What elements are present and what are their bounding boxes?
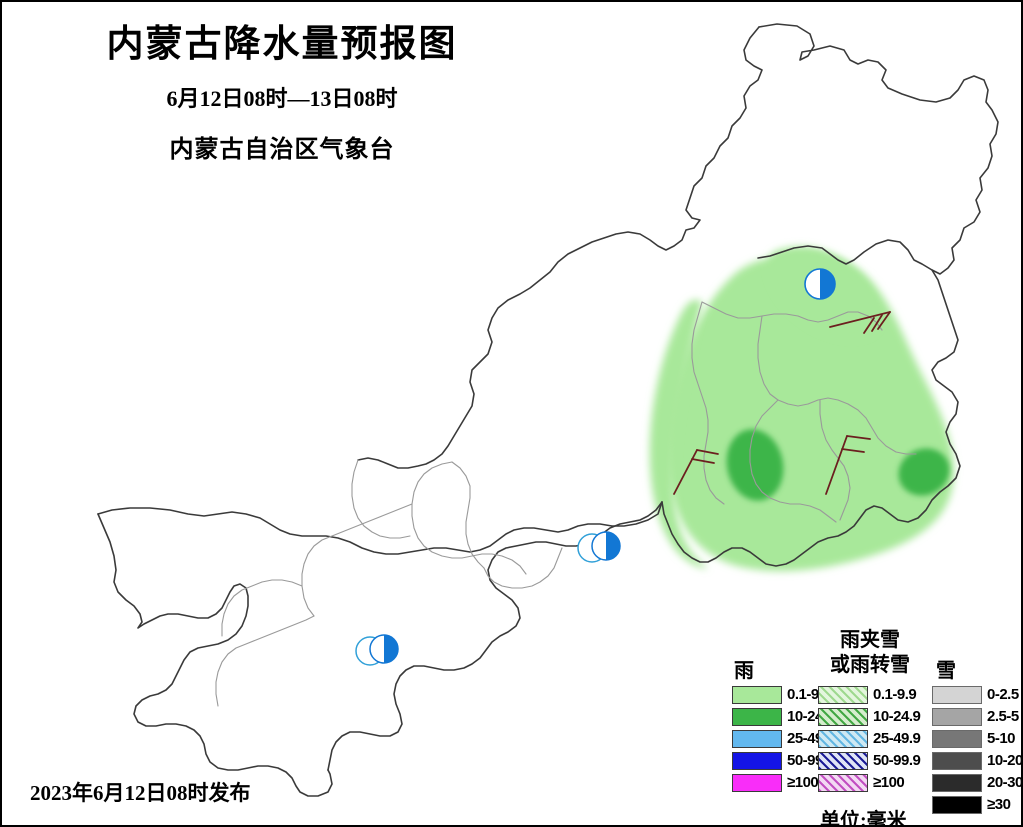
- boundary-hohhot: [302, 504, 412, 616]
- legend-row-snow-3: 10-20: [932, 750, 1023, 771]
- legend-label-sleet-2: 25-49.9: [873, 730, 920, 747]
- legend-label-snow-2: 5-10: [987, 730, 1015, 747]
- page-title: 内蒙古降水量预报图: [2, 24, 562, 67]
- precipitation-forecast-map-page: 内蒙古降水量预报图 6月12日08时—13日08时 内蒙古自治区气象台 2023…: [0, 0, 1023, 827]
- legend-label-sleet-1: 10-24.9: [873, 708, 920, 725]
- legend-swatch-snow-0: [932, 686, 982, 704]
- issuing-authority: 内蒙古自治区气象台: [2, 129, 562, 164]
- legend-unit-label: 单位:毫米: [820, 804, 907, 827]
- legend-label-snow-0: 0-2.5: [987, 686, 1019, 703]
- outline-west-left: [98, 514, 332, 796]
- legend: 雨 雨夹雪 或雨转雪 雪 0.1-9.910-24.925-49.950-99.…: [728, 626, 1016, 822]
- legend-header-sleet-line1: 雨夹雪: [810, 628, 930, 653]
- legend-row-sleet-1: 10-24.9: [818, 706, 920, 727]
- legend-label-snow-4: 20-30: [987, 774, 1023, 791]
- legend-swatch-snow-1: [932, 708, 982, 726]
- precip-symbol-west: [356, 635, 398, 665]
- legend-label-sleet-3: 50-99.9: [873, 752, 920, 769]
- legend-row-sleet-2: 25-49.9: [818, 728, 920, 749]
- legend-label-sleet-0: 0.1-9.9: [873, 686, 916, 703]
- legend-swatch-snow-3: [932, 752, 982, 770]
- legend-swatch-rain-0: [732, 686, 782, 704]
- legend-label-rain-4: ≥100: [787, 774, 818, 791]
- boundary-alxa-east: [352, 460, 410, 538]
- legend-header-sleet-line2: 或雨转雪: [810, 653, 930, 678]
- precip-symbol-central: [578, 532, 620, 562]
- legend-header-rain: 雨: [734, 654, 754, 683]
- legend-row-snow-1: 2.5-5: [932, 706, 1023, 727]
- boundary-baotou: [412, 462, 526, 574]
- legend-header-sleet: 雨夹雪 或雨转雪: [810, 628, 930, 678]
- legend-label-snow-3: 10-20: [987, 752, 1023, 769]
- legend-row-sleet-3: 50-99.9: [818, 750, 920, 771]
- legend-rows-sleet: 0.1-9.910-24.925-49.950-99.9≥100: [818, 684, 920, 794]
- legend-row-snow-0: 0-2.5: [932, 684, 1023, 705]
- forecast-period: 6月12日08时—13日08时: [2, 81, 562, 113]
- legend-label-sleet-4: ≥100: [873, 774, 904, 791]
- legend-row-sleet-0: 0.1-9.9: [818, 684, 920, 705]
- legend-swatch-sleet-2: [818, 730, 868, 748]
- issue-timestamp: 2023年6月12日08时发布: [30, 777, 251, 807]
- legend-swatch-snow-2: [932, 730, 982, 748]
- legend-swatch-rain-4: [732, 774, 782, 792]
- legend-header-snow: 雪: [936, 654, 956, 683]
- legend-row-sleet-4: ≥100: [818, 772, 920, 793]
- legend-swatch-rain-3: [732, 752, 782, 770]
- boundary-ordos: [216, 616, 314, 706]
- legend-rows-snow: 0-2.52.5-55-1010-2020-30≥30: [932, 684, 1023, 816]
- outline-hulunbuir: [758, 24, 998, 274]
- legend-swatch-sleet-1: [818, 708, 868, 726]
- legend-swatch-sleet-4: [818, 774, 868, 792]
- legend-swatch-sleet-0: [818, 686, 868, 704]
- legend-swatch-snow-5: [932, 796, 982, 814]
- legend-row-snow-4: 20-30: [932, 772, 1023, 793]
- legend-label-snow-1: 2.5-5: [987, 708, 1019, 725]
- legend-swatch-snow-4: [932, 774, 982, 792]
- legend-row-snow-2: 5-10: [932, 728, 1023, 749]
- legend-swatch-rain-2: [732, 730, 782, 748]
- boundary-bayannur: [222, 580, 302, 636]
- title-block: 内蒙古降水量预报图 6月12日08时—13日08时 内蒙古自治区气象台: [2, 24, 562, 164]
- legend-swatch-sleet-3: [818, 752, 868, 770]
- legend-label-snow-5: ≥30: [987, 796, 1010, 813]
- legend-swatch-rain-1: [732, 708, 782, 726]
- precip-symbol-hulunbuir: [805, 269, 835, 299]
- legend-row-snow-5: ≥30: [932, 794, 1023, 815]
